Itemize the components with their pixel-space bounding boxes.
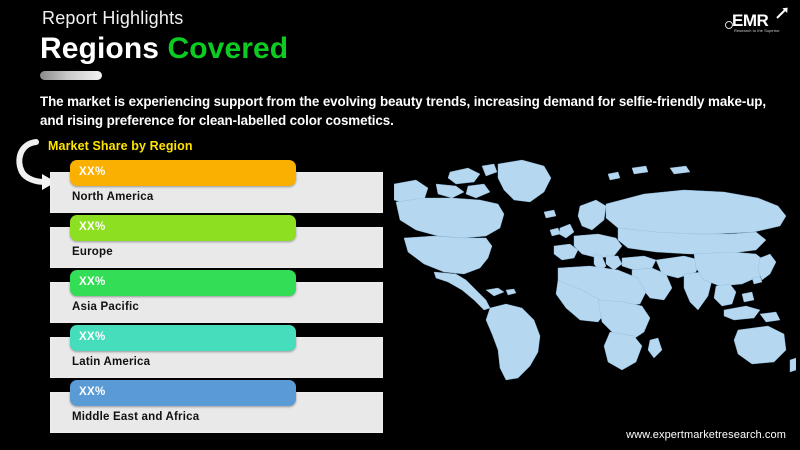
region-share-list: XX% North America XX% Europe XX% Asia Pa… xyxy=(50,160,386,435)
footer-url[interactable]: www.expertmarketresearch.com xyxy=(626,429,786,441)
lead-paragraph: The market is experiencing support from … xyxy=(40,92,768,130)
region-name-label: Middle East and Africa xyxy=(72,411,199,423)
region-value-label: XX% xyxy=(79,276,105,288)
emr-logo: EMR Research to the Superior xyxy=(722,4,792,38)
page-title-primary: Regions xyxy=(40,32,159,65)
region-bar[interactable]: XX% xyxy=(70,160,296,186)
logo-tagline: Research to the Superior xyxy=(734,29,780,33)
region-bar[interactable]: XX% xyxy=(70,380,296,406)
region-bar[interactable]: XX% xyxy=(70,325,296,351)
region-value-label: XX% xyxy=(79,166,105,178)
region-value-label: XX% xyxy=(79,386,105,398)
world-map-svg xyxy=(394,150,796,382)
page-title-accent: Covered xyxy=(167,32,288,65)
region-name-label: Europe xyxy=(72,246,113,258)
region-name-label: North America xyxy=(72,191,153,203)
world-map xyxy=(394,150,796,382)
region-name-label: Asia Pacific xyxy=(72,301,139,313)
eyebrow-label: Report Highlights xyxy=(42,8,183,29)
slide-root: Report Highlights Regions Covered EMR Re… xyxy=(0,0,800,450)
region-name-label: Latin America xyxy=(72,356,150,368)
region-value-label: XX% xyxy=(79,221,105,233)
chart-panel-label: Market Share by Region xyxy=(48,139,193,153)
region-value-label: XX% xyxy=(79,331,105,343)
list-item[interactable]: XX% Latin America xyxy=(50,325,386,380)
list-item[interactable]: XX% Europe xyxy=(50,215,386,270)
trend-arrow-icon xyxy=(775,6,789,20)
list-item[interactable]: XX% Middle East and Africa xyxy=(50,380,386,435)
logo-wordmark: EMR xyxy=(732,12,768,29)
page-title: Regions Covered xyxy=(40,32,288,66)
list-item[interactable]: XX% Asia Pacific xyxy=(50,270,386,325)
list-item[interactable]: XX% North America xyxy=(50,160,386,215)
region-bar[interactable]: XX% xyxy=(70,270,296,296)
title-underline-rule xyxy=(40,71,102,80)
region-bar[interactable]: XX% xyxy=(70,215,296,241)
